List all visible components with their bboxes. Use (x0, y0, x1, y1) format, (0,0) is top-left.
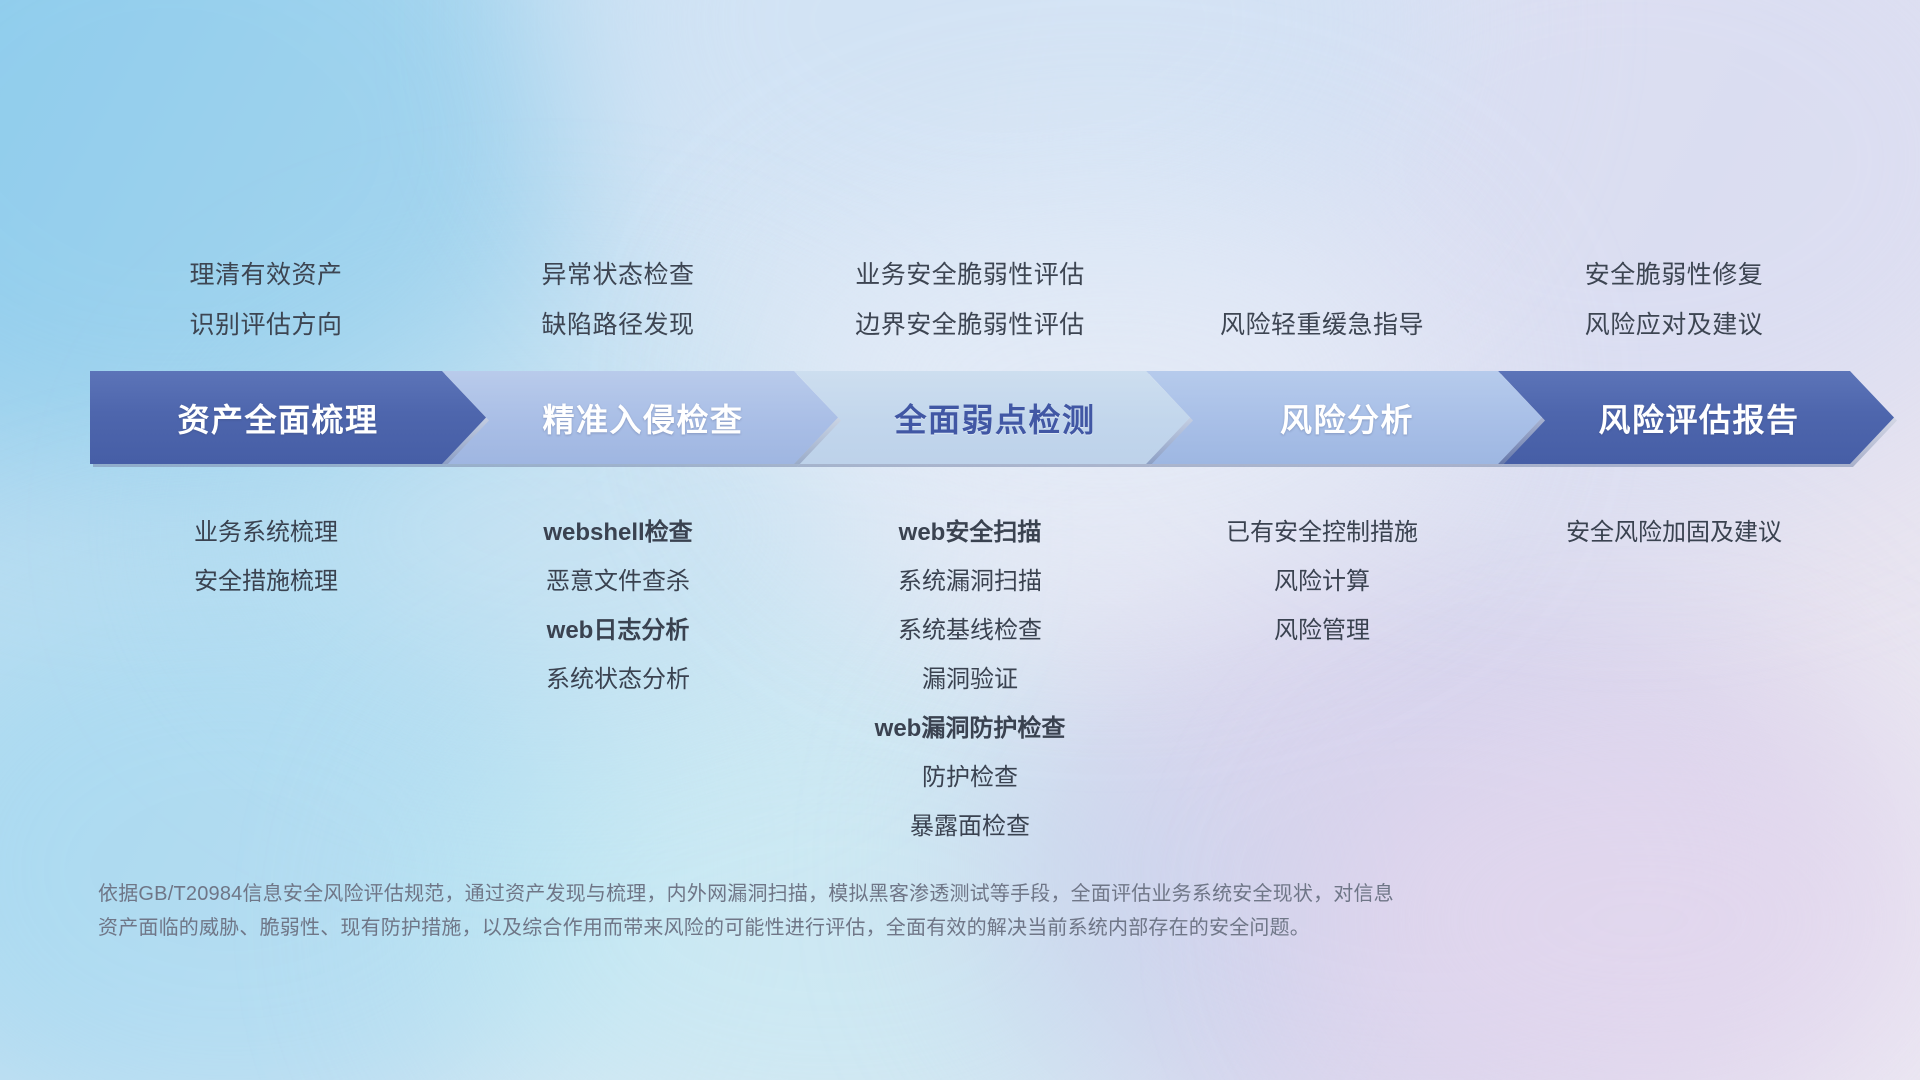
bottom-item: 风险管理 (1146, 606, 1498, 655)
top-item: 缺陷路径发现 (442, 300, 794, 350)
bottom-item: web漏洞防护检查 (794, 704, 1146, 753)
chevron-label: 风险分析 (1280, 395, 1414, 441)
top-annotations: 理清有效资产识别评估方向异常状态检查缺陷路径发现业务安全脆弱性评估边界安全脆弱性… (0, 240, 1920, 350)
bottom-column-risk-report: 安全风险加固及建议 (1498, 508, 1850, 851)
chevron-label: 资产全面梳理 (177, 395, 378, 441)
top-item: 理清有效资产 (90, 250, 442, 300)
bottom-item: 业务系统梳理 (90, 508, 442, 557)
chevron-intrusion-check[interactable]: 精准入侵检查 (442, 371, 838, 464)
top-column-risk-report: 安全脆弱性修复风险应对及建议 (1498, 240, 1850, 350)
chevron-risk-report[interactable]: 风险评估报告 (1498, 371, 1894, 464)
chevron-label: 精准入侵检查 (542, 395, 743, 441)
bottom-item: 系统基线检查 (794, 606, 1146, 655)
top-item: 识别评估方向 (90, 300, 442, 350)
bottom-item: 防护检查 (794, 753, 1146, 802)
top-item: 异常状态检查 (442, 250, 794, 300)
bottom-column-risk-analysis: 已有安全控制措施风险计算风险管理 (1146, 508, 1498, 851)
caption-line-1: 依据GB/T20984信息安全风险评估规范，通过资产发现与梳理，内外网漏洞扫描，… (98, 877, 1658, 911)
bottom-item: web安全扫描 (794, 508, 1146, 557)
top-column-intrusion-check: 异常状态检查缺陷路径发现 (442, 240, 794, 350)
caption-block: 依据GB/T20984信息安全风险评估规范，通过资产发现与梳理，内外网漏洞扫描，… (98, 877, 1658, 945)
top-item: 边界安全脆弱性评估 (794, 300, 1146, 350)
chevron-label: 全面弱点检测 (894, 395, 1095, 441)
bottom-item: 系统状态分析 (442, 655, 794, 704)
chevron-label: 风险评估报告 (1598, 395, 1799, 441)
bottom-item: 安全风险加固及建议 (1498, 508, 1850, 557)
bottom-column-asset-inventory: 业务系统梳理安全措施梳理 (90, 508, 442, 851)
chevron-asset-inventory[interactable]: 资产全面梳理 (90, 371, 486, 464)
bottom-column-weakness-detection: web安全扫描系统漏洞扫描系统基线检查漏洞验证web漏洞防护检查防护检查暴露面检… (794, 508, 1146, 851)
bottom-item: webshell检查 (442, 508, 794, 557)
bottom-item: 安全措施梳理 (90, 557, 442, 606)
caption-line-2: 资产面临的威胁、脆弱性、现有防护措施，以及综合作用而带来风险的可能性进行评估，全… (98, 911, 1658, 945)
top-item: 业务安全脆弱性评估 (794, 250, 1146, 300)
top-item: 安全脆弱性修复 (1498, 250, 1850, 300)
bottom-item: 恶意文件查杀 (442, 557, 794, 606)
top-item: 风险轻重缓急指导 (1146, 300, 1498, 350)
chevron-risk-analysis[interactable]: 风险分析 (1146, 371, 1542, 464)
bottom-item: 漏洞验证 (794, 655, 1146, 704)
infographic-canvas: 理清有效资产识别评估方向异常状态检查缺陷路径发现业务安全脆弱性评估边界安全脆弱性… (0, 0, 1920, 1080)
bottom-item: 暴露面检查 (794, 802, 1146, 851)
bottom-item: 风险计算 (1146, 557, 1498, 606)
top-column-risk-analysis: 风险轻重缓急指导 (1146, 240, 1498, 350)
bottom-item: 已有安全控制措施 (1146, 508, 1498, 557)
bottom-column-intrusion-check: webshell检查恶意文件查杀web日志分析系统状态分析 (442, 508, 794, 851)
top-column-weakness-detection: 业务安全脆弱性评估边界安全脆弱性评估 (794, 240, 1146, 350)
chevron-weakness-detection[interactable]: 全面弱点检测 (794, 371, 1190, 464)
top-item: 风险应对及建议 (1498, 300, 1850, 350)
bottom-annotations: 业务系统梳理安全措施梳理webshell检查恶意文件查杀web日志分析系统状态分… (0, 508, 1920, 851)
bottom-item: web日志分析 (442, 606, 794, 655)
top-column-asset-inventory: 理清有效资产识别评估方向 (90, 240, 442, 350)
process-chevron-band: 资产全面梳理精准入侵检查全面弱点检测风险分析风险评估报告 (90, 371, 1850, 464)
bottom-item: 系统漏洞扫描 (794, 557, 1146, 606)
